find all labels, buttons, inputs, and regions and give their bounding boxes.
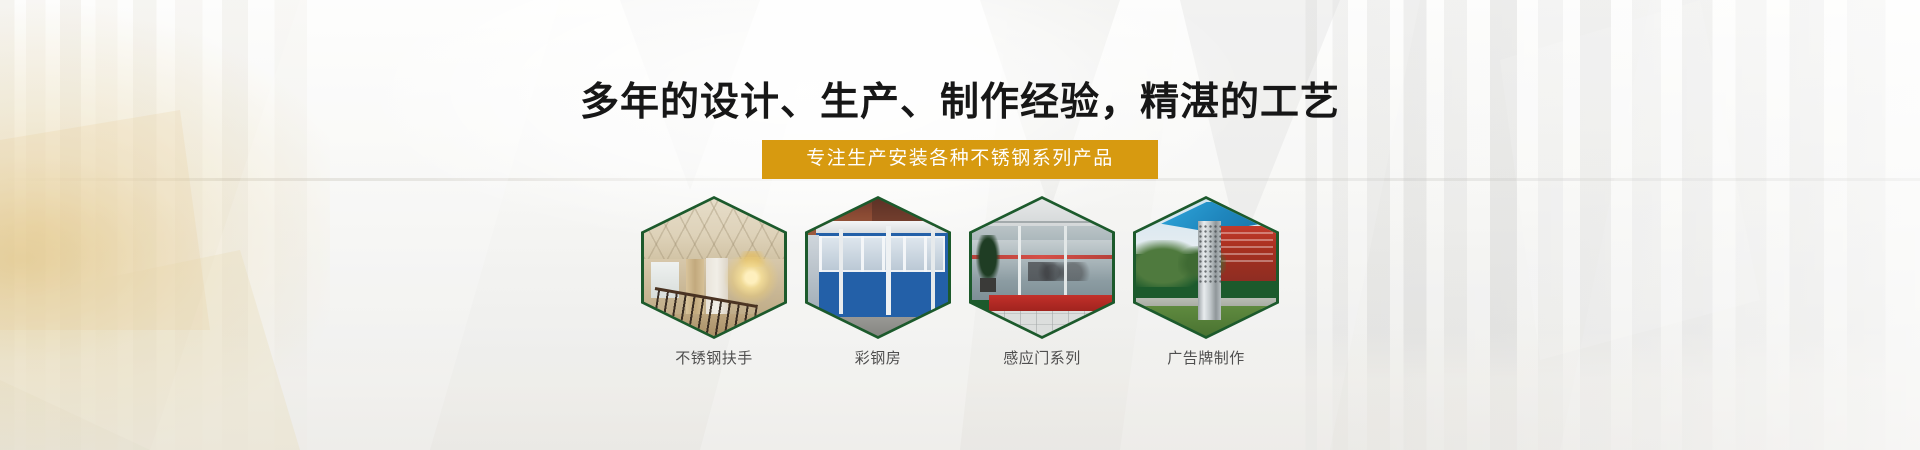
headline-text: 多年的设计、生产、制作经验，精湛的工艺 <box>0 80 1920 126</box>
hexagon-photo-handrail <box>644 199 784 336</box>
product-item-color-steel-house[interactable]: 彩钢房 <box>805 196 951 368</box>
product-caption: 不锈钢扶手 <box>675 350 753 368</box>
photo-billboard <box>1136 199 1276 336</box>
hexagon-frame <box>969 196 1115 339</box>
hexagon-photo-sensor-door <box>972 199 1112 336</box>
photo-sensor-door <box>972 199 1112 336</box>
promo-banner: 多年的设计、生产、制作经验，精湛的工艺 专注生产安装各种不锈钢系列产品 <box>0 0 1920 450</box>
photo-handrail <box>644 199 784 336</box>
product-caption: 广告牌制作 <box>1167 350 1245 368</box>
banner-content: 多年的设计、生产、制作经验，精湛的工艺 专注生产安装各种不锈钢系列产品 <box>0 0 1920 450</box>
product-caption: 彩钢房 <box>855 350 902 368</box>
photo-color-steel-house <box>808 199 948 336</box>
product-item-sensor-door[interactable]: 感应门系列 <box>969 196 1115 368</box>
hexagon-photo-billboard <box>1136 199 1276 336</box>
hexagon-photo-color-steel-house <box>808 199 948 336</box>
product-item-billboard[interactable]: 广告牌制作 <box>1133 196 1279 368</box>
hexagon-frame <box>641 196 787 339</box>
product-item-handrail[interactable]: 不锈钢扶手 <box>641 196 787 368</box>
product-hexagon-row: 不锈钢扶手 <box>0 196 1920 368</box>
tagline-badge: 专注生产安装各种不锈钢系列产品 <box>762 140 1158 179</box>
hexagon-frame <box>1133 196 1279 339</box>
badge-container: 专注生产安装各种不锈钢系列产品 <box>0 140 1920 179</box>
product-caption: 感应门系列 <box>1003 350 1081 368</box>
hexagon-frame <box>805 196 951 339</box>
